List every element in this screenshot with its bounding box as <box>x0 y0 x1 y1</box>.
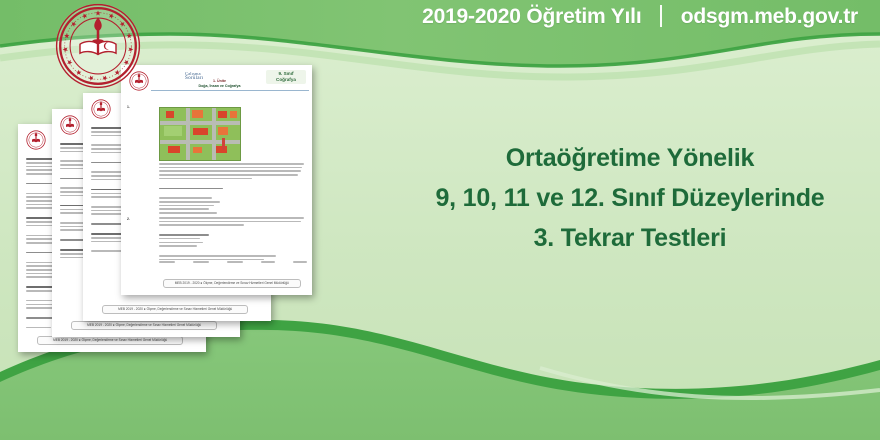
sheet-header-rule <box>151 90 309 91</box>
website-label: odsgm.meb.gov.tr <box>681 5 858 28</box>
title-line-2: 9, 10, 11 ve 12. Sınıf Düzeylerinde <box>395 178 865 218</box>
sheet-footer-text: MEB 2019 - 2020 ● Ölçme, Değerlendirme v… <box>163 279 301 288</box>
promo-banner: 2019-2020 Öğretim Yılı odsgm.meb.gov.tr <box>0 0 880 440</box>
sheet-meb-seal-icon <box>60 115 80 135</box>
unit-line-2: Doğa, İnsan ve Coğrafya <box>129 84 310 89</box>
main-title-block: Ortaöğretime Yönelik 9, 10, 11 ve 12. Sı… <box>395 138 865 258</box>
sheet-unit-title: 1. Ünite Doğa, İnsan ve Coğrafya <box>129 79 310 89</box>
sheet-footer-text: MEB 2019 - 2020 ● Ölçme, Değerlendirme v… <box>37 336 184 345</box>
academic-year-label: 2019-2020 Öğretim Yılı <box>422 5 641 28</box>
title-line-1: Ortaöğretime Yönelik <box>395 138 865 178</box>
header-divider <box>660 5 662 27</box>
header-text-group: 2019-2020 Öğretim Yılı odsgm.meb.gov.tr <box>422 5 858 29</box>
test-papers-stack: MEB 2019 - 2020 ● Ölçme, Değerlendirme v… <box>0 52 360 352</box>
question-number-1: 1. <box>127 105 130 109</box>
sheet-footer-text: MEB 2019 - 2020 ● Ölçme, Değerlendirme v… <box>71 321 218 330</box>
title-line-3: 3. Tekrar Testleri <box>395 218 865 258</box>
question-number-2: 2. <box>127 217 130 221</box>
answer-options-row <box>159 261 307 265</box>
test-sheet-front: Çalışma Soruları 9. Sınıf Coğrafya 1. Ün… <box>121 65 312 295</box>
sheet-meb-seal-icon <box>91 99 111 119</box>
sheet-meb-seal-icon <box>26 130 46 150</box>
city-plan-map-illustration <box>159 107 241 161</box>
meb-seal-logo <box>53 0 143 92</box>
sheet-footer-text: MEB 2019 - 2020 ● Ölçme, Değerlendirme v… <box>102 305 249 314</box>
